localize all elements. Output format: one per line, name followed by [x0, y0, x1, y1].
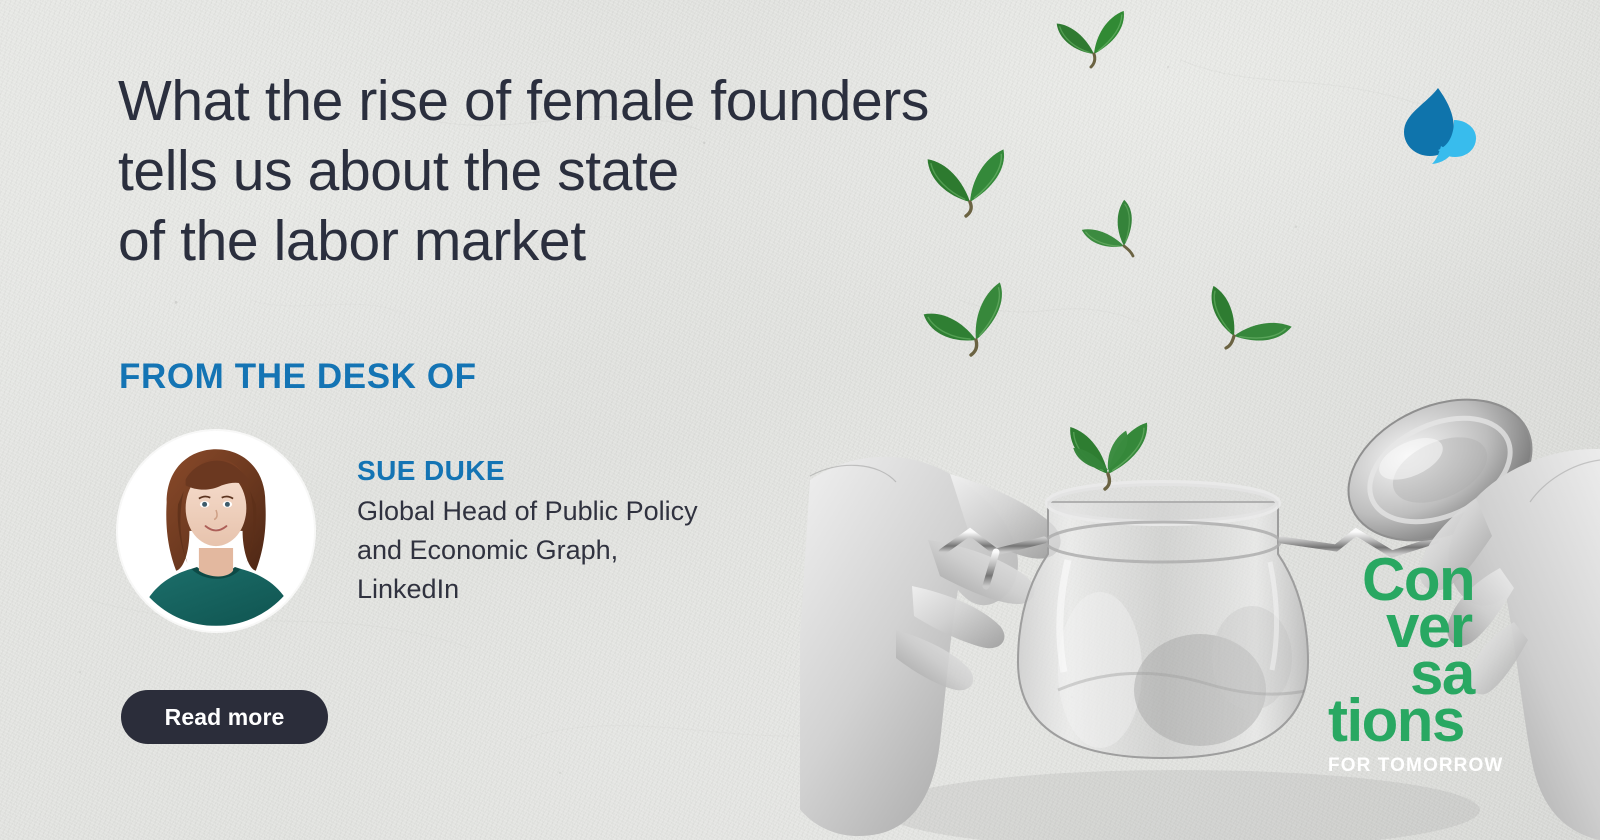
page-title: What the rise of female founders tells u… — [118, 66, 1048, 276]
leaf-pair-icon — [1062, 412, 1158, 486]
cft-tagline: FOR TOMORROW — [1328, 755, 1512, 777]
glass-jar — [1018, 483, 1318, 758]
avatar — [118, 431, 314, 631]
byline: SUE DUKE Global Head of Public Policy an… — [357, 452, 827, 609]
read-more-button[interactable]: Read more — [121, 690, 328, 744]
from-the-desk-of-label: FROM THE DESK OF — [119, 357, 477, 397]
conversations-for-tomorrow-logo: Con ver sa tions FOR TOMORROW — [1352, 556, 1512, 777]
leaf-pair-icon — [1190, 258, 1298, 352]
cft-line-4: tions — [1328, 697, 1512, 744]
promo-card: What the rise of female founders tells u… — [0, 0, 1600, 840]
leaf-pair-icon — [1044, 0, 1148, 68]
author-role: Global Head of Public Policy and Economi… — [357, 492, 827, 609]
capgemini-spade-logo-icon — [1392, 84, 1484, 164]
author-portrait — [123, 436, 309, 626]
leaf-pair-icon — [1062, 186, 1158, 268]
author-name: SUE DUKE — [357, 452, 827, 490]
